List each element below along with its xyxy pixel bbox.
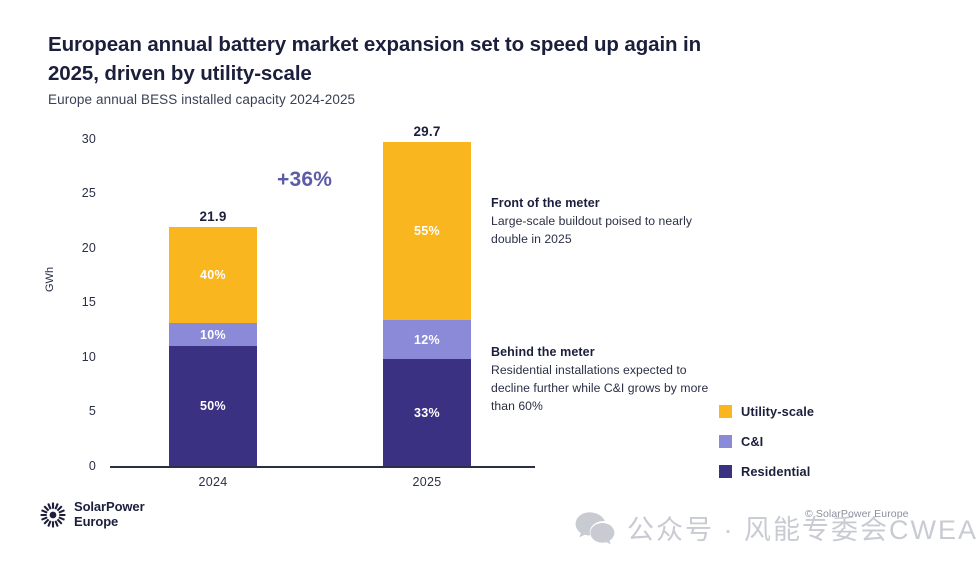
growth-annotation: +36% — [277, 168, 332, 192]
bar-segment-label-2024-utility-scale: 40% — [200, 268, 226, 282]
y-tick-15: 15 — [52, 295, 96, 309]
y-tick-5: 5 — [52, 404, 96, 418]
bar-segment-2025-ci: 12% — [383, 320, 471, 359]
y-axis-title: GWh — [44, 267, 56, 292]
brand-wordmark-line2: Europe — [74, 515, 145, 530]
bar-segment-label-2025-ci: 12% — [414, 333, 440, 347]
bar-segment-label-2024-residential: 50% — [200, 399, 226, 413]
x-tick-2024: 2024 — [153, 475, 273, 489]
x-tick-2025: 2025 — [367, 475, 487, 489]
legend-swatch-residential-icon — [719, 465, 732, 478]
wechat-icon — [575, 511, 615, 545]
legend-swatch-ci-icon — [719, 435, 732, 448]
brand-logo: SolarPower Europe — [40, 500, 145, 529]
copyright-notice: © SolarPower Europe — [805, 508, 909, 520]
annotation-behind-the-meter: Behind the meter Residential installatio… — [491, 345, 723, 415]
bar-segment-label-2025-utility-scale: 55% — [414, 224, 440, 238]
y-tick-0: 0 — [52, 459, 96, 473]
annotation-front-of-the-meter-body: Large-scale buildout poised to nearly do… — [491, 213, 723, 249]
brand-wordmark: SolarPower Europe — [74, 500, 145, 529]
y-tick-20: 20 — [52, 241, 96, 255]
stacked-bar-2025: 55% 12% 33% — [383, 142, 471, 466]
annotation-behind-the-meter-title: Behind the meter — [491, 345, 723, 359]
bar-segment-2024-utility-scale: 40% — [169, 227, 257, 323]
legend-label-residential: Residential — [741, 464, 810, 479]
bar-segment-2025-residential: 33% — [383, 359, 471, 466]
watermark-text: 公众号 · 风能专委会CWEA — [627, 508, 977, 547]
x-axis-line — [110, 466, 535, 468]
bar-total-2025: 29.7 — [383, 124, 471, 139]
brand-wordmark-line1: SolarPower — [74, 500, 145, 515]
annotation-behind-the-meter-body: Residential installations expected to de… — [491, 362, 723, 415]
bar-total-2024: 21.9 — [169, 209, 257, 224]
annotation-front-of-the-meter: Front of the meter Large-scale buildout … — [491, 196, 723, 249]
legend-item-ci[interactable]: C&I — [719, 426, 814, 456]
y-tick-30: 30 — [52, 132, 96, 146]
y-tick-25: 25 — [52, 186, 96, 200]
watermark: 公众号 · 风能专委会CWEA — [575, 508, 977, 547]
legend-label-ci: C&I — [741, 434, 763, 449]
y-tick-10: 10 — [52, 350, 96, 364]
sunburst-logo-icon — [40, 502, 66, 528]
bar-segment-label-2024-ci: 10% — [200, 328, 226, 342]
bar-segment-2024-ci: 10% — [169, 323, 257, 347]
annotation-front-of-the-meter-title: Front of the meter — [491, 196, 723, 210]
legend-item-residential[interactable]: Residential — [719, 456, 814, 486]
chart-legend: Utility-scale C&I Residential — [719, 396, 814, 486]
chart-plot-area: 30 25 20 15 10 5 0 GWh 21.9 40% 10% 50% … — [0, 0, 977, 569]
bar-segment-2025-utility-scale: 55% — [383, 142, 471, 320]
legend-item-utility-scale[interactable]: Utility-scale — [719, 396, 814, 426]
legend-swatch-utility-scale-icon — [719, 405, 732, 418]
legend-label-utility-scale: Utility-scale — [741, 404, 814, 419]
bar-segment-label-2025-residential: 33% — [414, 406, 440, 420]
stacked-bar-2024: 40% 10% 50% — [169, 227, 257, 466]
chart-page: European annual battery market expansion… — [0, 0, 977, 569]
bar-segment-2024-residential: 50% — [169, 346, 257, 466]
